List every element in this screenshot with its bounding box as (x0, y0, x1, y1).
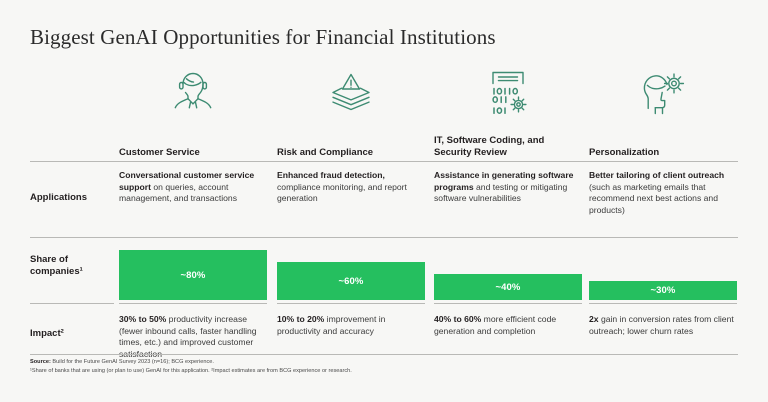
bar-personalization: ~30% (589, 281, 737, 300)
application-cell-1: Enhanced fraud detection, compliance mon… (277, 170, 427, 205)
divider-impact-label (30, 303, 114, 304)
bar-risk-compliance: ~60% (277, 262, 425, 300)
bar-value-label-3: ~30% (651, 285, 676, 296)
impact-cell-3: 2x gain in conversion rates from client … (589, 314, 739, 337)
bar-slot-2: ~40% (434, 244, 582, 300)
code-gear-icon (480, 60, 536, 118)
share-of-companies-row: Share of companies¹ ~80% ~60% ~40% (30, 238, 738, 300)
column-header-row: Customer Service Risk and Compliance IT,… (30, 126, 738, 158)
divider-impact-2 (434, 303, 582, 304)
row-label-impact: Impact² (30, 328, 114, 340)
head-gear-icon (634, 62, 692, 118)
application-cell-2: Assistance in generating software progra… (434, 170, 584, 205)
divider-impact-0 (119, 303, 267, 304)
bar-slot-0: ~80% (119, 244, 267, 300)
bar-it-software-coding: ~40% (434, 274, 582, 300)
slide-root: Biggest GenAI Opportunities for Financia… (0, 0, 768, 402)
icon-cell-3 (589, 58, 737, 118)
bar-slot-3: ~30% (589, 244, 737, 300)
application-cell-0: Conversational customer service support … (119, 170, 269, 205)
footnote-notes: ¹Share of banks that are using (or plan … (30, 367, 738, 376)
headset-agent-icon (165, 62, 221, 118)
divider-impact-1 (277, 303, 425, 304)
divider-footnote-top (30, 354, 738, 355)
footnote-block: Source: Build for the Future GenAI Surve… (30, 358, 738, 375)
footnote-source: Source: Build for the Future GenAI Surve… (30, 358, 738, 367)
impact-cell-1: 10% to 20% improvement in productivity a… (277, 314, 427, 337)
bar-value-label-0: ~80% (181, 270, 206, 281)
layers-warning-icon (323, 62, 379, 118)
impact-cell-2: 40% to 60% more efficient code generatio… (434, 314, 584, 337)
impact-row: Impact² 30% to 50% productivity increase… (30, 306, 738, 364)
icon-cell-2 (434, 58, 582, 118)
icon-cell-0 (119, 58, 267, 118)
bar-customer-service: ~80% (119, 250, 267, 300)
icon-cell-1 (277, 58, 425, 118)
row-label-applications: Applications (30, 192, 114, 204)
bar-slot-1: ~60% (277, 244, 425, 300)
bar-value-label-1: ~60% (339, 276, 364, 287)
page-title: Biggest GenAI Opportunities for Financia… (30, 25, 496, 50)
application-cell-3: Better tailoring of client outreach (suc… (589, 170, 739, 216)
row-label-share-of-companies: Share of companies¹ (30, 254, 114, 277)
applications-row: Applications Conversational customer ser… (30, 162, 738, 234)
bar-value-label-2: ~40% (496, 282, 521, 293)
divider-impact-3 (589, 303, 737, 304)
